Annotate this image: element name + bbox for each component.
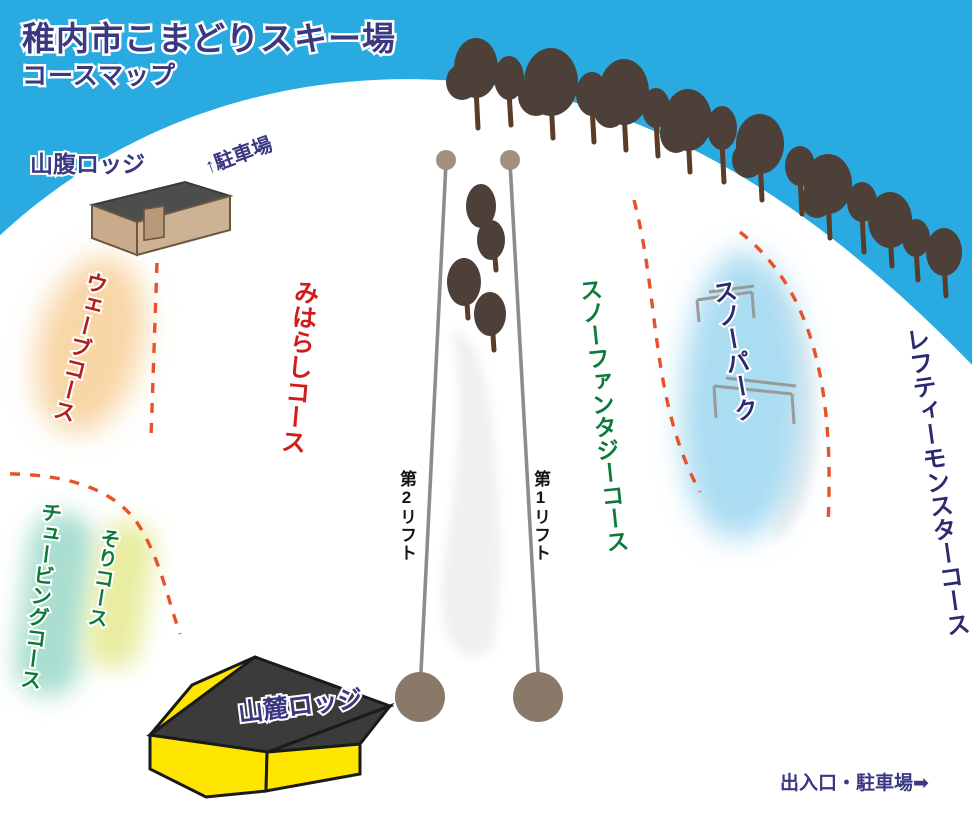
lift1-base-station (513, 672, 563, 722)
lift2-top-station (436, 150, 456, 170)
lift2-base-station (395, 672, 445, 722)
ski-course-map: 稚内市こまどりスキー場 コースマップ 山腹ロッジ ↑駐車場 山麓ロッジ 出入口・… (0, 0, 972, 813)
lift1-top-station (500, 150, 520, 170)
map-base-layer (0, 0, 972, 813)
